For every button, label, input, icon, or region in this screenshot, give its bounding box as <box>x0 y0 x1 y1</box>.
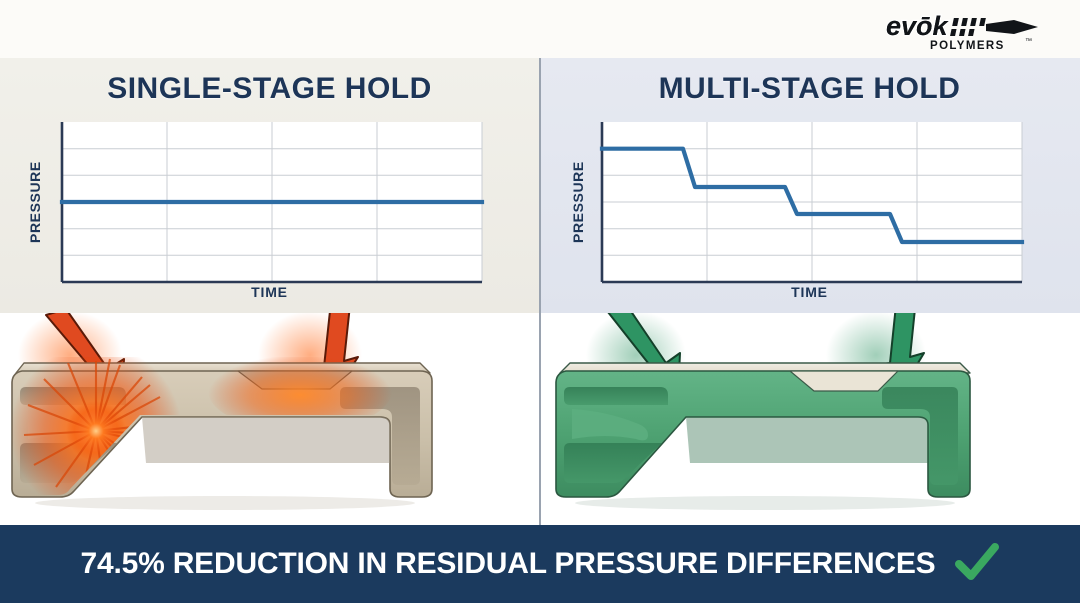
logo-svg: evōk evōk POLYMERS ™ <box>886 8 1062 54</box>
x-axis-label-single: TIME <box>0 284 539 300</box>
logo-trademark: ™ <box>1025 38 1032 45</box>
panel-multi-stage: MULTI-STAGE HOLD PRESSURE <box>539 58 1080 313</box>
hotspot-starburst-center <box>66 401 126 461</box>
panel-title-single-stage: SINGLE-STAGE HOLD <box>0 72 539 106</box>
banner-text: 74.5% REDUCTION IN RESIDUAL PRESSURE DIF… <box>81 547 936 581</box>
chart-multi-stage <box>539 116 1080 306</box>
part-shadow <box>35 496 415 510</box>
evok-polymers-logo: evōk evōk POLYMERS ™ <box>886 8 1062 54</box>
chart-svg-single <box>50 116 490 291</box>
chart-svg-multi <box>590 116 1030 291</box>
part-svg-tan <box>0 313 540 525</box>
part-single-stage <box>0 313 540 525</box>
part-multi-stage <box>540 313 1080 525</box>
chart-single-stage <box>0 116 539 306</box>
panel-title-multi-stage: MULTI-STAGE HOLD <box>539 72 1080 106</box>
logo-arrow-icon <box>950 18 1038 36</box>
part-svg-green <box>540 313 1080 525</box>
logo-wordmark-fill: evōk <box>886 11 950 41</box>
part-shadow-green <box>575 496 955 510</box>
logo-subtext: POLYMERS <box>930 40 1005 52</box>
check-icon <box>954 542 1000 586</box>
infographic-root: evōk evōk POLYMERS ™ S <box>0 0 1080 603</box>
x-axis-label-multi: TIME <box>539 284 1080 300</box>
part-body-green <box>556 363 970 497</box>
panel-single-stage: SINGLE-STAGE HOLD PRESSURE <box>0 58 539 313</box>
result-banner: 74.5% REDUCTION IN RESIDUAL PRESSURE DIF… <box>0 525 1080 603</box>
panel-divider <box>539 58 541 525</box>
